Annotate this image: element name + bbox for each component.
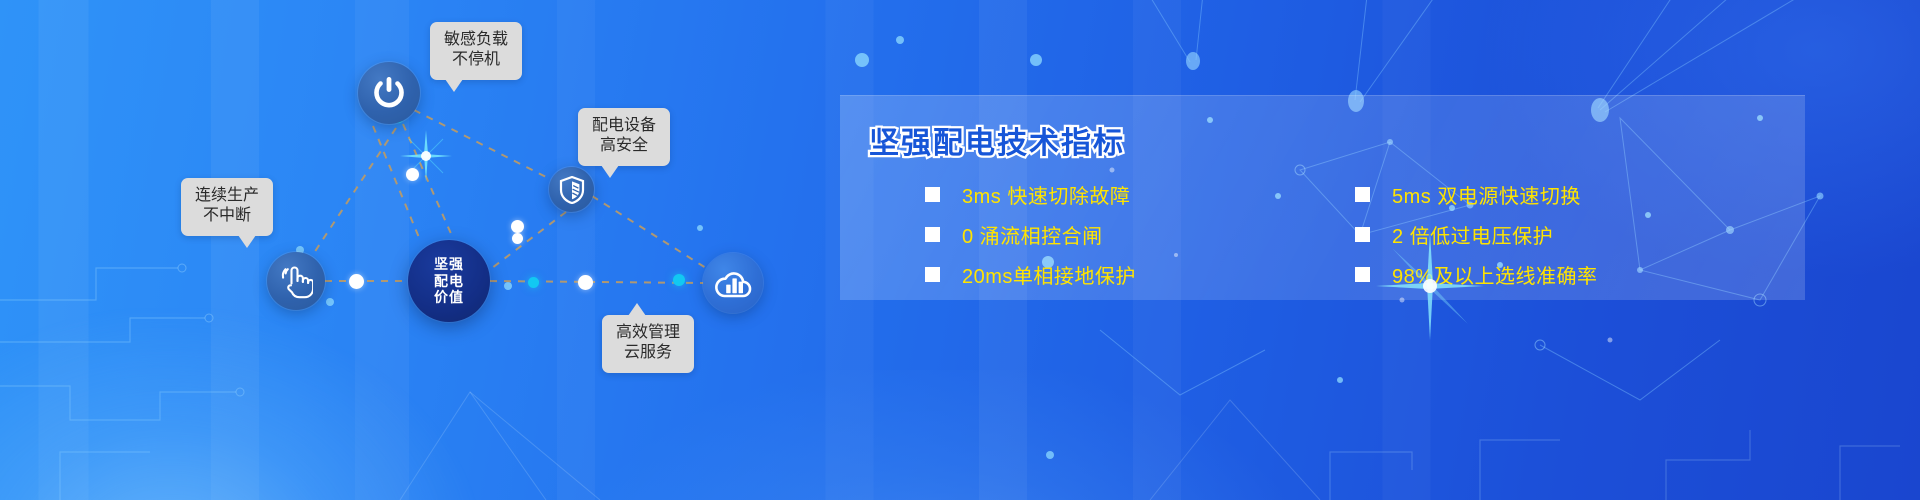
bubble-line-2: 云服务 xyxy=(616,343,680,363)
node-power[interactable] xyxy=(358,62,420,124)
bubble-line-1: 配电设备 xyxy=(592,116,656,136)
bubble-tail xyxy=(601,165,619,178)
spec-item-label: 20ms单相接地保护 xyxy=(962,260,1136,289)
spec-item-label: 0 涌流相控合闸 xyxy=(962,220,1103,249)
power-button-icon xyxy=(370,74,408,112)
spec-item-label: 5ms 双电源快速切换 xyxy=(1392,180,1581,209)
square-bullet-icon xyxy=(1355,187,1370,202)
bubble-line-1: 高效管理 xyxy=(616,323,680,343)
bubble-line-2: 高安全 xyxy=(592,136,656,156)
connector-dot xyxy=(349,274,364,289)
square-bullet-icon xyxy=(1355,227,1370,242)
connector-dot-accent xyxy=(673,274,685,286)
spec-item[interactable]: 2 倍低过电压保护 xyxy=(1355,214,1785,254)
square-bullet-icon xyxy=(1355,267,1370,282)
hand-pointer-icon xyxy=(279,263,313,299)
connector-dot-accent xyxy=(528,277,539,288)
spec-item[interactable]: 0 涌流相控合闸 xyxy=(925,214,1355,254)
bubble-equipment-safety[interactable]: 配电设备 高安全 xyxy=(578,108,670,166)
node-center-value[interactable]: 坚强 配电 价值 xyxy=(408,240,490,322)
spec-item[interactable]: 5ms 双电源快速切换 xyxy=(1355,174,1785,214)
square-bullet-icon xyxy=(925,227,940,242)
spec-list: 3ms 快速切除故障 5ms 双电源快速切换 0 涌流相控合闸 2 倍低过电压保… xyxy=(925,174,1785,294)
spec-item[interactable]: 20ms单相接地保护 xyxy=(925,254,1355,294)
center-line-1: 坚强 xyxy=(434,256,464,273)
connector-dot xyxy=(511,220,524,233)
square-bullet-icon xyxy=(925,267,940,282)
bubble-cloud-service[interactable]: 高效管理 云服务 xyxy=(602,315,694,373)
value-network-diagram: 坚强 配电 价值 敏感负载 不停机 配电设备 高安全 连续生产 不中断 高效管理… xyxy=(0,0,900,500)
spec-panel: 坚强配电技术指标 3ms 快速切除故障 5ms 双电源快速切换 0 涌流相控合闸… xyxy=(840,95,1805,300)
connector-dot xyxy=(512,233,523,244)
spec-item[interactable]: 3ms 快速切除故障 xyxy=(925,174,1355,214)
cloud-bar-chart-icon xyxy=(713,267,753,299)
center-line-3: 价值 xyxy=(434,289,464,306)
bubble-line-1: 连续生产 xyxy=(195,186,259,206)
spec-item[interactable]: 98%及以上选线准确率 xyxy=(1355,254,1785,294)
connector-dot xyxy=(406,168,419,181)
banner-stage: 坚强 配电 价值 敏感负载 不停机 配电设备 高安全 连续生产 不中断 高效管理… xyxy=(0,0,1920,500)
node-shield[interactable] xyxy=(549,167,594,212)
shield-icon xyxy=(559,176,585,204)
spec-item-label: 3ms 快速切除故障 xyxy=(962,180,1130,209)
panel-title: 坚强配电技术指标 xyxy=(869,118,1125,162)
bubble-continuous-production[interactable]: 连续生产 不中断 xyxy=(181,178,273,236)
spec-item-label: 98%及以上选线准确率 xyxy=(1392,260,1598,289)
spec-item-label: 2 倍低过电压保护 xyxy=(1392,220,1553,249)
node-cloud[interactable] xyxy=(703,253,763,313)
bubble-tail xyxy=(445,79,463,92)
node-touch[interactable] xyxy=(267,252,325,310)
bubble-tail xyxy=(628,303,646,316)
bubble-tail xyxy=(238,235,256,248)
bubble-line-2: 不停机 xyxy=(444,50,508,70)
bubble-line-2: 不中断 xyxy=(195,206,259,226)
square-bullet-icon xyxy=(925,187,940,202)
connector-dot xyxy=(578,275,593,290)
bubble-sensitive-load[interactable]: 敏感负载 不停机 xyxy=(430,22,522,80)
center-line-2: 配电 xyxy=(434,273,464,290)
center-node-label: 坚强 配电 价值 xyxy=(434,256,464,306)
bubble-line-1: 敏感负载 xyxy=(444,30,508,50)
